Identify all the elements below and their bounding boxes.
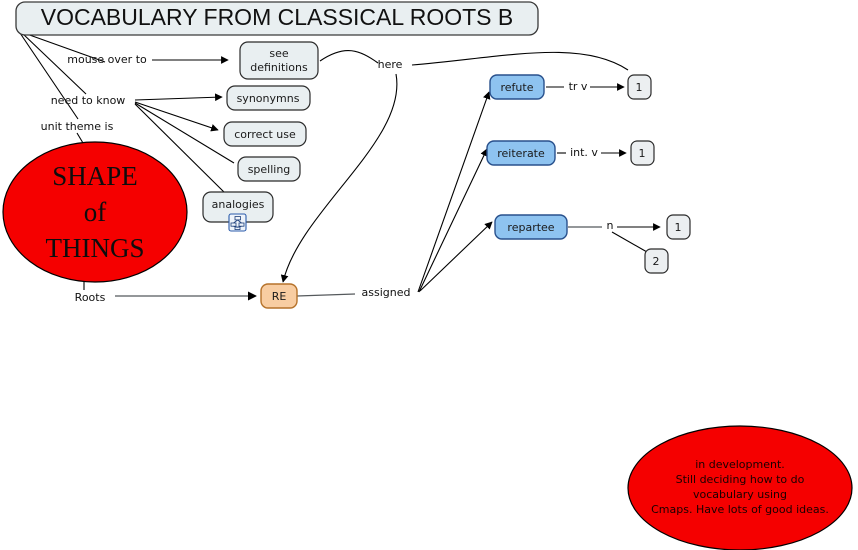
concept-map-icon[interactable] bbox=[229, 214, 246, 231]
node-see-definitions[interactable]: see definitions bbox=[240, 42, 318, 79]
correct-use-label: correct use bbox=[234, 128, 296, 141]
linking-phrase-unit-theme-is[interactable]: unit theme is bbox=[41, 120, 114, 133]
linking-phrase-roots[interactable]: Roots bbox=[75, 291, 106, 304]
map-title-label: VOCABULARY FROM CLASSICAL ROOTS B bbox=[41, 4, 513, 30]
reiterate-sense-label: 1 bbox=[639, 147, 646, 160]
shape-of-things-line3: THINGS bbox=[46, 233, 145, 263]
linking-phrase-tr-v[interactable]: tr v bbox=[569, 80, 588, 93]
development-note-line1: in development. bbox=[695, 458, 785, 471]
node-repartee-sense-1[interactable]: 1 bbox=[667, 215, 690, 239]
reiterate-label: reiterate bbox=[497, 147, 545, 160]
linking-phrase-need-to-know[interactable]: need to know bbox=[51, 94, 126, 107]
linking-phrase-mouse-over-to[interactable]: mouse over to bbox=[67, 53, 147, 66]
refute-label: refute bbox=[501, 81, 534, 94]
linking-phrase-n[interactable]: n bbox=[607, 219, 614, 232]
see-definitions-label-line1: see bbox=[269, 47, 288, 60]
node-re[interactable]: RE bbox=[261, 284, 297, 308]
repartee-label: repartee bbox=[507, 221, 554, 234]
node-synonymns[interactable]: synonymns bbox=[227, 86, 310, 110]
repartee-sense-2-label: 2 bbox=[653, 255, 660, 268]
shape-of-things-line1: SHAPE bbox=[52, 161, 138, 191]
linking-phrase-assigned[interactable]: assigned bbox=[362, 286, 411, 299]
repartee-sense-1-label: 1 bbox=[675, 221, 682, 234]
development-note-line4: Cmaps. Have lots of good ideas. bbox=[651, 503, 829, 516]
link-here-to-refute bbox=[412, 52, 628, 70]
link-n-to-sense2 bbox=[612, 232, 647, 252]
link-assigned-to-reiterate bbox=[419, 149, 487, 292]
link-needtoknow-to-spelling bbox=[135, 103, 234, 163]
linking-phrase-here[interactable]: here bbox=[378, 58, 403, 71]
node-reiterate[interactable]: reiterate bbox=[487, 141, 555, 165]
shape-of-things-line2: of bbox=[84, 197, 107, 227]
re-label: RE bbox=[272, 290, 287, 303]
analogies-label: analogies bbox=[212, 198, 265, 211]
node-repartee[interactable]: repartee bbox=[495, 215, 567, 239]
node-spelling[interactable]: spelling bbox=[238, 157, 300, 181]
link-unittheme-to-shapeofthings bbox=[77, 133, 83, 143]
link-needtoknow-to-synonymns bbox=[135, 97, 222, 100]
link-seedefinitions-to-here bbox=[320, 51, 378, 63]
node-correct-use[interactable]: correct use bbox=[224, 122, 306, 146]
linking-phrase-int-v[interactable]: int. v bbox=[570, 146, 598, 159]
synonymns-label: synonymns bbox=[237, 92, 300, 105]
node-refute[interactable]: refute bbox=[490, 75, 544, 99]
node-repartee-sense-2[interactable]: 2 bbox=[645, 249, 668, 273]
refute-sense-label: 1 bbox=[636, 81, 643, 94]
see-definitions-label-line2: definitions bbox=[250, 61, 308, 74]
link-re-to-assigned bbox=[297, 294, 355, 296]
node-development-note[interactable]: in development. Still deciding how to do… bbox=[628, 426, 852, 550]
node-shape-of-things[interactable]: SHAPE of THINGS bbox=[3, 142, 187, 282]
link-assigned-to-refute bbox=[418, 92, 489, 292]
spelling-label: spelling bbox=[248, 163, 291, 176]
development-note-line2: Still deciding how to do bbox=[676, 473, 805, 486]
node-refute-sense-1[interactable]: 1 bbox=[628, 75, 651, 99]
development-note-line3: vocabulary using bbox=[693, 488, 787, 501]
node-analogies[interactable]: analogies bbox=[203, 192, 273, 231]
map-title-node[interactable]: VOCABULARY FROM CLASSICAL ROOTS B bbox=[16, 2, 538, 35]
node-reiterate-sense-1[interactable]: 1 bbox=[631, 141, 654, 165]
concept-map-canvas: VOCABULARY FROM CLASSICAL ROOTS B mouse … bbox=[0, 0, 858, 550]
